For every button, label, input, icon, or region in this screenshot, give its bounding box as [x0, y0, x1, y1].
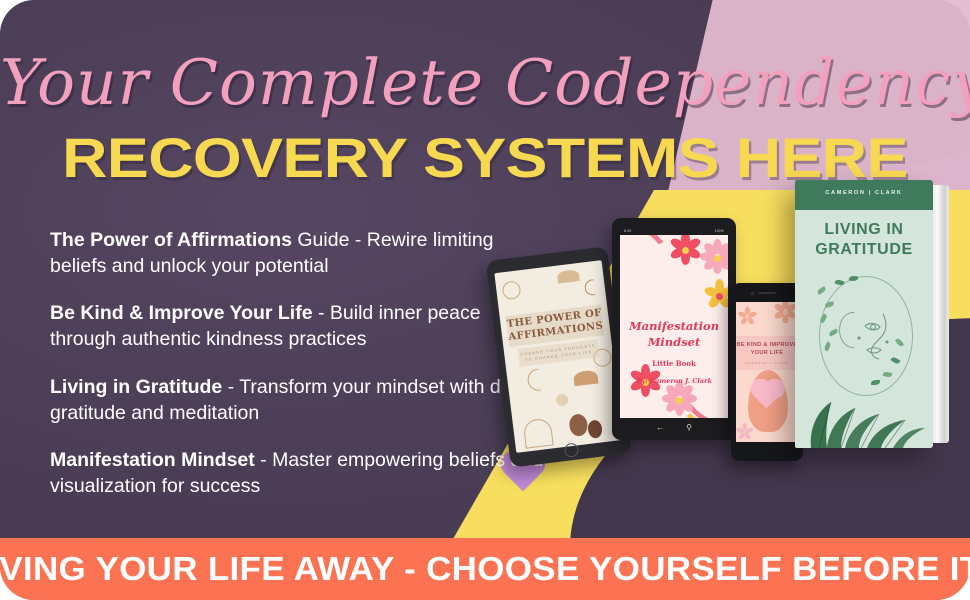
- product-bullet-list: The Power of Affirmations Guide - Rewire…: [50, 228, 550, 522]
- list-item: Living in Gratitude - Transform your min…: [50, 375, 550, 426]
- palm-fronds-decoration: [801, 386, 927, 448]
- manifestation-cover-title: Manifestation Mindset: [628, 319, 720, 350]
- bullet-title: Manifestation Mindset: [50, 449, 255, 471]
- bullet-title: Living in Gratitude: [50, 376, 222, 398]
- book-brand: CAMERON | CLARK: [795, 190, 933, 196]
- list-item: Manifestation Mindset - Master empowerin…: [50, 448, 550, 499]
- list-item: The Power of Affirmations Guide - Rewire…: [50, 228, 550, 279]
- promo-banner: Your Complete Codependency RECOVERY SYST…: [0, 0, 970, 600]
- tablet-manifestation-screen: Manifestation Mindset Little Book By: Ca…: [620, 235, 728, 418]
- cta-text: STOP GIVING YOUR LIFE AWAY - CHOOSE YOUR…: [0, 550, 970, 588]
- book-gratitude-cover: CAMERON | CLARK LIVING IN GRATITUDE: [795, 180, 933, 448]
- book-gratitude-mockup: CAMERON | CLARK LIVING IN GRATITUDE: [795, 180, 933, 448]
- manifestation-cover-kicker: Little Book: [628, 359, 720, 368]
- line-art-face-icon: [857, 310, 891, 362]
- back-arrow-icon[interactable]: ←: [656, 423, 664, 432]
- tablet-affirmations-screen: THE POWER OF AFFIRMATIONS CHANGE YOUR TH…: [494, 260, 623, 453]
- bekind-cover-author: CAMERON J CLARK: [736, 361, 798, 365]
- tablet-navigation-bar[interactable]: ← ⚲: [620, 419, 728, 435]
- tablet-manifestation-mockup: 8:49 100%: [612, 218, 736, 440]
- tablet-affirmations-mockup: THE POWER OF AFFIRMATIONS CHANGE YOUR TH…: [486, 246, 632, 467]
- status-battery: 100%: [715, 229, 724, 233]
- head-silhouette-icon: [748, 370, 788, 432]
- bullet-title: The Power of Affirmations: [50, 229, 292, 251]
- book-cover-title: LIVING IN GRATITUDE: [795, 220, 933, 260]
- status-time: 8:49: [624, 229, 631, 233]
- tablet-home-button-icon: [564, 442, 580, 458]
- phone-speaker-icon: [758, 292, 776, 294]
- search-icon[interactable]: ⚲: [686, 423, 692, 432]
- bullet-title: Be Kind & Improve Your Life: [50, 302, 313, 324]
- headline-script: Your Complete Codependency: [0, 46, 970, 119]
- phone-bekind-screen: BE KIND & IMPROVE YOUR LIFE CAMERON J CL…: [736, 302, 798, 442]
- manifestation-cover-author: By: Cameron J. Clark: [628, 377, 720, 385]
- phone-bekind-mockup: BE KIND & IMPROVE YOUR LIFE CAMERON J CL…: [731, 283, 803, 461]
- bekind-cover-band: BE KIND & IMPROVE YOUR LIFE CAMERON J CL…: [736, 336, 798, 370]
- cta-banner[interactable]: STOP GIVING YOUR LIFE AWAY - CHOOSE YOUR…: [0, 538, 970, 600]
- book-page-edges: [931, 185, 949, 443]
- list-item: Be Kind & Improve Your Life - Build inne…: [50, 301, 550, 352]
- tablet-status-bar: 8:49 100%: [620, 226, 728, 235]
- phone-camera-icon: [751, 292, 754, 295]
- bekind-cover-title: BE KIND & IMPROVE YOUR LIFE: [736, 341, 798, 358]
- heart-icon: [754, 382, 781, 409]
